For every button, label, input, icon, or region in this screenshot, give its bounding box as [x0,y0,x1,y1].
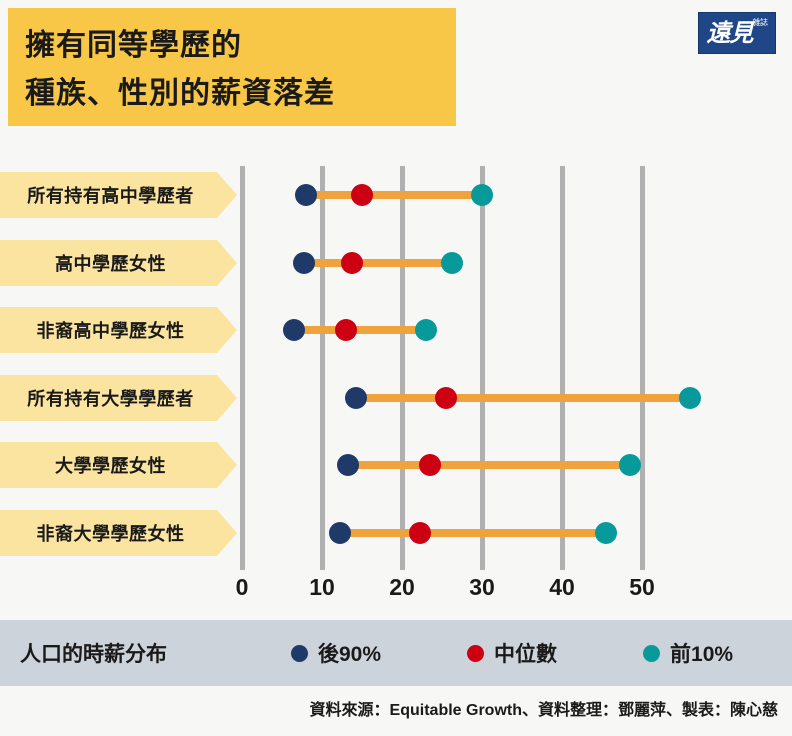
logo-subtext: 雜誌 [753,19,768,27]
data-point-high [415,319,437,341]
legend-dot-median [467,645,484,662]
page-title-line-2: 種族、性別的薪資落差 [25,70,456,118]
legend-dot-low [291,645,308,662]
data-point-low [283,319,305,341]
data-point-low [293,252,315,274]
data-point-low [295,184,317,206]
data-point-med [435,387,457,409]
legend-item-high: 前10% [643,638,733,668]
data-point-high [619,454,641,476]
source-footer: 資料來源：Equitable Growth、資料整理：鄧麗萍、製表：陳心慈 [0,696,792,720]
data-point-med [409,522,431,544]
dumbbell-row-5 [0,442,792,488]
dumbbell-row-1 [0,172,792,218]
data-point-low [329,522,351,544]
x-tick-50: 50 [629,574,655,601]
legend-title: 人口的時薪分布 [20,638,167,668]
title-banner: 擁有同等學歷的 種族、性別的薪資落差 [8,8,456,126]
dumbbell-chart: 01020304050 所有持有高中學歷者高中學歷女性非裔高中學歷女性所有持有大… [0,150,792,610]
x-tick-0: 0 [236,574,249,601]
data-point-low [337,454,359,476]
dumbbell-row-6 [0,510,792,556]
range-connector [348,461,630,469]
legend-label-high: 前10% [670,638,733,668]
data-point-med [419,454,441,476]
data-point-high [471,184,493,206]
data-point-high [679,387,701,409]
legend-label-low: 後90% [318,638,381,668]
legend-item-low: 後90% [291,638,381,668]
range-connector [294,326,426,334]
dumbbell-row-3 [0,307,792,353]
data-point-low [345,387,367,409]
range-connector [306,191,482,199]
dumbbell-row-2 [0,240,792,286]
legend-label-median: 中位數 [494,638,557,668]
x-tick-10: 10 [309,574,335,601]
data-point-med [341,252,363,274]
dumbbell-row-4 [0,375,792,421]
data-point-high [595,522,617,544]
publisher-logo: 遠見 雜誌 [698,12,776,54]
page-title-line-1: 擁有同等學歷的 [25,22,456,70]
data-point-med [351,184,373,206]
data-point-med [335,319,357,341]
x-tick-40: 40 [549,574,575,601]
range-connector [356,394,690,402]
logo-wordmark: 遠見 [707,21,753,45]
legend-item-median: 中位數 [467,638,557,668]
chart-legend: 人口的時薪分布 後90% 中位數 前10% [0,620,792,686]
x-tick-20: 20 [389,574,415,601]
range-connector [304,259,452,267]
data-point-high [441,252,463,274]
legend-dot-high [643,645,660,662]
x-tick-30: 30 [469,574,495,601]
range-connector [340,529,606,537]
